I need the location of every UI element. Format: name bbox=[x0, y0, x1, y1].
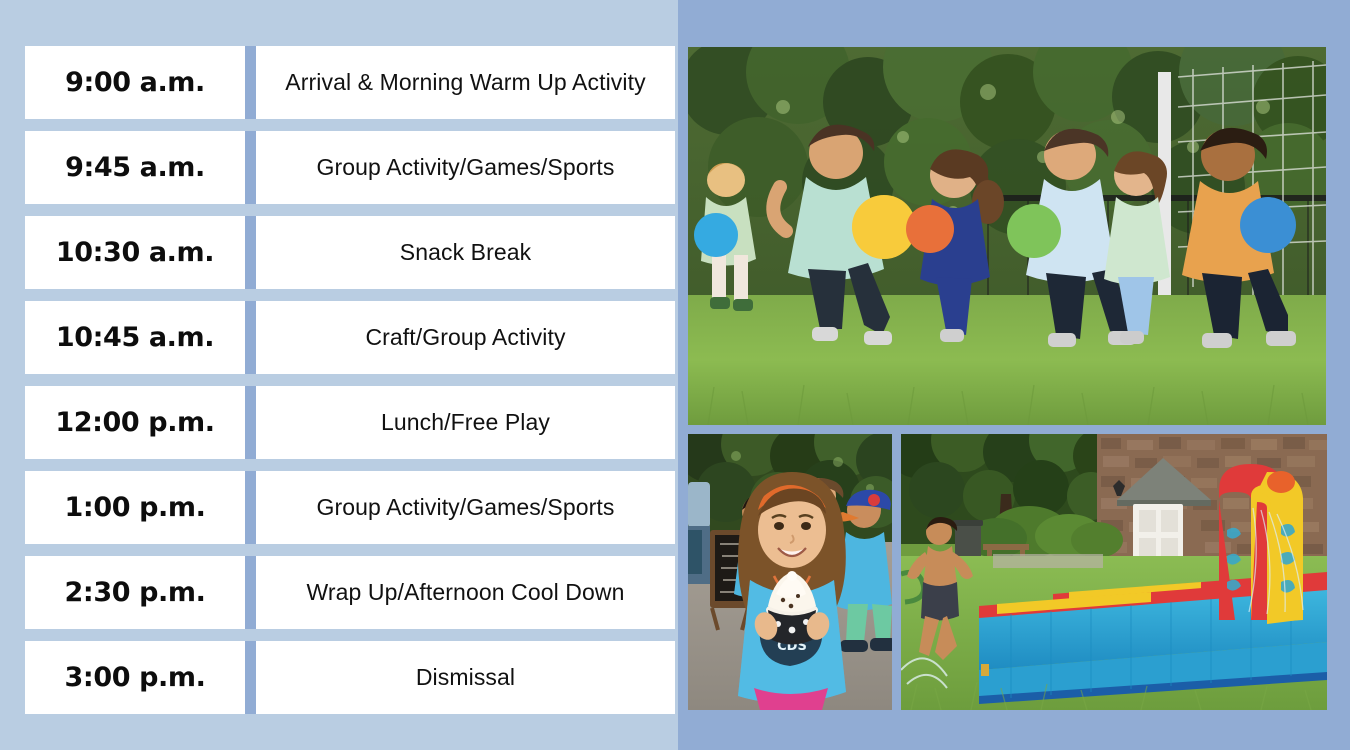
activity-cell: Arrival & Morning Warm Up Activity bbox=[256, 46, 675, 119]
column-divider bbox=[245, 46, 256, 119]
table-row: 3:00 p.m. Dismissal bbox=[25, 641, 675, 714]
time-cell: 3:00 p.m. bbox=[25, 641, 245, 714]
table-row: 2:30 p.m. Wrap Up/Afternoon Cool Down bbox=[25, 556, 675, 629]
table-row: 10:45 a.m. Craft/Group Activity bbox=[25, 301, 675, 374]
time-cell: 10:30 a.m. bbox=[25, 216, 245, 289]
activity-cell: Wrap Up/Afternoon Cool Down bbox=[256, 556, 675, 629]
column-divider bbox=[245, 641, 256, 714]
activity-cell: Dismissal bbox=[256, 641, 675, 714]
activity-label: Dismissal bbox=[416, 664, 515, 691]
schedule-panel: 9:00 a.m. Arrival & Morning Warm Up Acti… bbox=[0, 0, 678, 750]
column-divider bbox=[245, 131, 256, 204]
activity-label: Lunch/Free Play bbox=[381, 409, 550, 436]
time-label: 3:00 p.m. bbox=[65, 662, 206, 693]
time-label: 2:30 p.m. bbox=[65, 577, 206, 608]
activity-cell: Lunch/Free Play bbox=[256, 386, 675, 459]
photo-water-slide bbox=[901, 434, 1327, 710]
activity-label: Snack Break bbox=[400, 239, 532, 266]
activity-label: Wrap Up/Afternoon Cool Down bbox=[306, 579, 624, 606]
activity-label: Group Activity/Games/Sports bbox=[317, 154, 615, 181]
activity-label: Craft/Group Activity bbox=[365, 324, 565, 351]
activity-label: Group Activity/Games/Sports bbox=[317, 494, 615, 521]
activity-cell: Group Activity/Games/Sports bbox=[256, 131, 675, 204]
photo-ball-game bbox=[688, 47, 1326, 425]
time-label: 12:00 p.m. bbox=[55, 407, 214, 438]
activity-cell: Group Activity/Games/Sports bbox=[256, 471, 675, 544]
column-divider bbox=[245, 216, 256, 289]
table-row: 12:00 p.m. Lunch/Free Play bbox=[25, 386, 675, 459]
time-label: 9:00 a.m. bbox=[65, 67, 205, 98]
schedule-table: 9:00 a.m. Arrival & Morning Warm Up Acti… bbox=[25, 46, 675, 705]
time-cell: 12:00 p.m. bbox=[25, 386, 245, 459]
time-cell: 2:30 p.m. bbox=[25, 556, 245, 629]
time-label: 10:30 a.m. bbox=[56, 237, 214, 268]
activity-cell: Craft/Group Activity bbox=[256, 301, 675, 374]
camp-schedule-slide: 9:00 a.m. Arrival & Morning Warm Up Acti… bbox=[0, 0, 1350, 750]
column-divider bbox=[245, 471, 256, 544]
photo-panel: CDS bbox=[678, 0, 1350, 750]
photo-ice-cream: CDS bbox=[688, 434, 892, 710]
column-divider bbox=[245, 301, 256, 374]
activity-cell: Snack Break bbox=[256, 216, 675, 289]
activity-label: Arrival & Morning Warm Up Activity bbox=[285, 69, 645, 96]
table-row: 9:00 a.m. Arrival & Morning Warm Up Acti… bbox=[25, 46, 675, 119]
time-cell: 9:00 a.m. bbox=[25, 46, 245, 119]
time-label: 10:45 a.m. bbox=[56, 322, 214, 353]
time-label: 1:00 p.m. bbox=[65, 492, 206, 523]
time-cell: 10:45 a.m. bbox=[25, 301, 245, 374]
table-row: 9:45 a.m. Group Activity/Games/Sports bbox=[25, 131, 675, 204]
time-label: 9:45 a.m. bbox=[65, 152, 205, 183]
table-row: 1:00 p.m. Group Activity/Games/Sports bbox=[25, 471, 675, 544]
column-divider bbox=[245, 556, 256, 629]
column-divider bbox=[245, 386, 256, 459]
table-row: 10:30 a.m. Snack Break bbox=[25, 216, 675, 289]
time-cell: 1:00 p.m. bbox=[25, 471, 245, 544]
time-cell: 9:45 a.m. bbox=[25, 131, 245, 204]
